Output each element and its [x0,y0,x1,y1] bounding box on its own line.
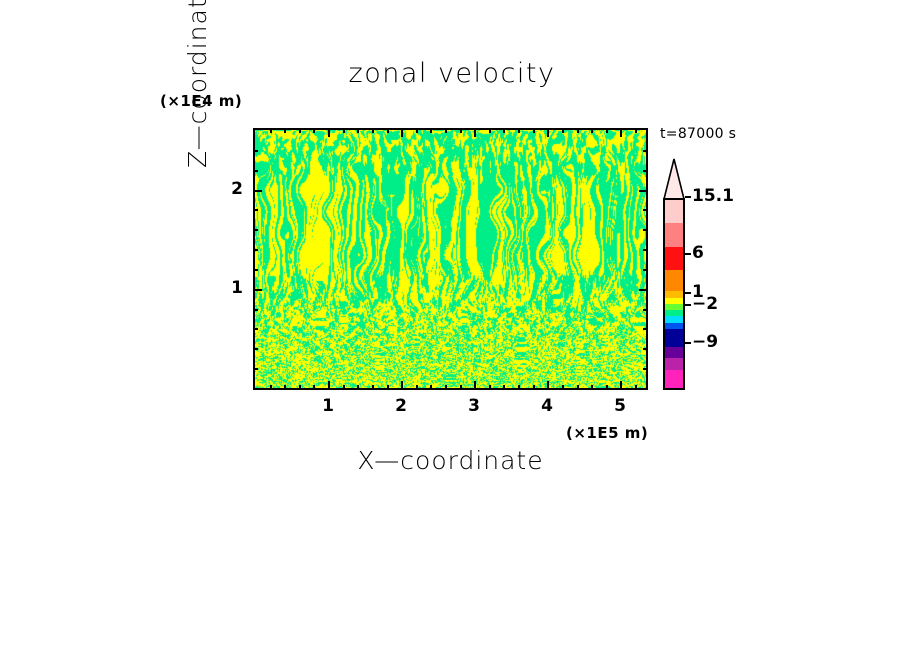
y-tick-major-right [639,289,648,291]
y-tick-minor-right [643,150,648,152]
x-tick-major [547,381,549,390]
y-tick-minor [253,269,258,271]
x-tick-minor [460,385,462,390]
x-tick-minor [445,385,447,390]
x-tick-minor-top [606,128,608,133]
y-axis-title: Z—coordinate [183,0,212,168]
y-tick-minor [253,170,258,172]
x-tick-minor [313,385,315,390]
x-tick-minor [489,385,491,390]
y-tick-minor-right [643,348,648,350]
x-tick-minor-top [416,128,418,133]
heatmap-plot-area [253,128,648,390]
x-tick-minor-top [460,128,462,133]
x-tick-minor-top [489,128,491,133]
y-tick-minor-right [643,368,648,370]
colorbar-band [665,329,683,347]
x-tick-minor [591,385,593,390]
colorbar-band [665,247,683,270]
x-tick-minor [357,385,359,390]
page-title: zonal velocity [0,58,904,89]
x-tick-minor [387,385,389,390]
y-tick-minor [253,209,258,211]
x-tick-minor-top [270,128,272,133]
y-tick-minor-right [643,209,648,211]
time-stamp-annotation: t=87000 s [660,126,736,142]
x-tick-major-top [328,128,330,137]
y-tick-minor-right [643,309,648,311]
y-tick-minor-right [643,170,648,172]
y-tick-minor [253,249,258,251]
x-tick-minor [299,385,301,390]
x-tick-minor-top [313,128,315,133]
x-tick-label: 1 [313,396,343,416]
y-tick-label: 2 [213,179,243,199]
x-tick-minor [577,385,579,390]
y-tick-minor [253,229,258,231]
x-tick-major-top [547,128,549,137]
colorbar-band [665,370,683,388]
y-tick-minor [253,309,258,311]
x-tick-minor [430,385,432,390]
x-tick-minor-top [387,128,389,133]
x-tick-minor [533,385,535,390]
y-tick-label: 1 [213,278,243,298]
colorbar-tick [685,342,691,344]
colorbar-label: −9 [692,332,718,352]
x-tick-minor-top [284,128,286,133]
x-tick-label: 4 [532,396,562,416]
heatmap-canvas [255,130,646,388]
x-tick-major-top [620,128,622,137]
x-tick-minor-top [635,128,637,133]
x-tick-major [401,381,403,390]
y-tick-minor [253,150,258,152]
x-tick-label: 5 [605,396,635,416]
x-tick-major-top [474,128,476,137]
x-tick-major [328,381,330,390]
colorbar-label: 6 [692,243,704,263]
x-tick-minor-top [518,128,520,133]
x-tick-minor [284,385,286,390]
y-tick-minor-right [643,249,648,251]
x-tick-major [474,381,476,390]
x-axis-title: X—coordinate [253,446,648,475]
y-tick-minor-right [643,229,648,231]
x-tick-minor [503,385,505,390]
x-tick-minor-top [445,128,447,133]
x-tick-minor-top [430,128,432,133]
x-tick-minor-top [562,128,564,133]
colorbar-band [665,223,683,246]
x-axis-unit-label: (×1E5 m) [566,424,648,442]
y-tick-minor [253,348,258,350]
x-tick-minor [343,385,345,390]
x-tick-label: 2 [386,396,416,416]
colorbar-band [665,347,683,359]
x-tick-minor [518,385,520,390]
x-tick-minor [606,385,608,390]
x-tick-minor-top [533,128,535,133]
x-tick-minor-top [591,128,593,133]
colorbar-band [665,270,683,291]
x-tick-minor [635,385,637,390]
colorbar-label: 15.1 [692,186,734,206]
x-tick-minor-top [503,128,505,133]
x-tick-minor [562,385,564,390]
colorbar-band [665,200,683,223]
x-tick-minor [270,385,272,390]
y-tick-major-right [639,190,648,192]
x-tick-major-top [401,128,403,137]
x-tick-label: 3 [459,396,489,416]
colorbar-tick [685,196,691,198]
colorbar-band [665,358,683,370]
colorbar-tick [685,304,691,306]
y-tick-minor [253,368,258,370]
y-tick-minor-right [643,269,648,271]
y-tick-major [253,190,262,192]
x-tick-minor-top [357,128,359,133]
x-tick-minor [372,385,374,390]
y-tick-major [253,289,262,291]
colorbar-tick [685,253,691,255]
colorbar-tick [685,292,691,294]
colorbar-arrow-icon [663,158,685,200]
x-tick-minor-top [299,128,301,133]
x-tick-major [620,381,622,390]
x-tick-minor [416,385,418,390]
x-tick-minor-top [577,128,579,133]
y-tick-minor [253,328,258,330]
colorbar [663,198,685,390]
y-tick-minor-right [643,328,648,330]
colorbar-label: −2 [692,294,718,314]
x-tick-minor-top [372,128,374,133]
x-tick-minor-top [343,128,345,133]
